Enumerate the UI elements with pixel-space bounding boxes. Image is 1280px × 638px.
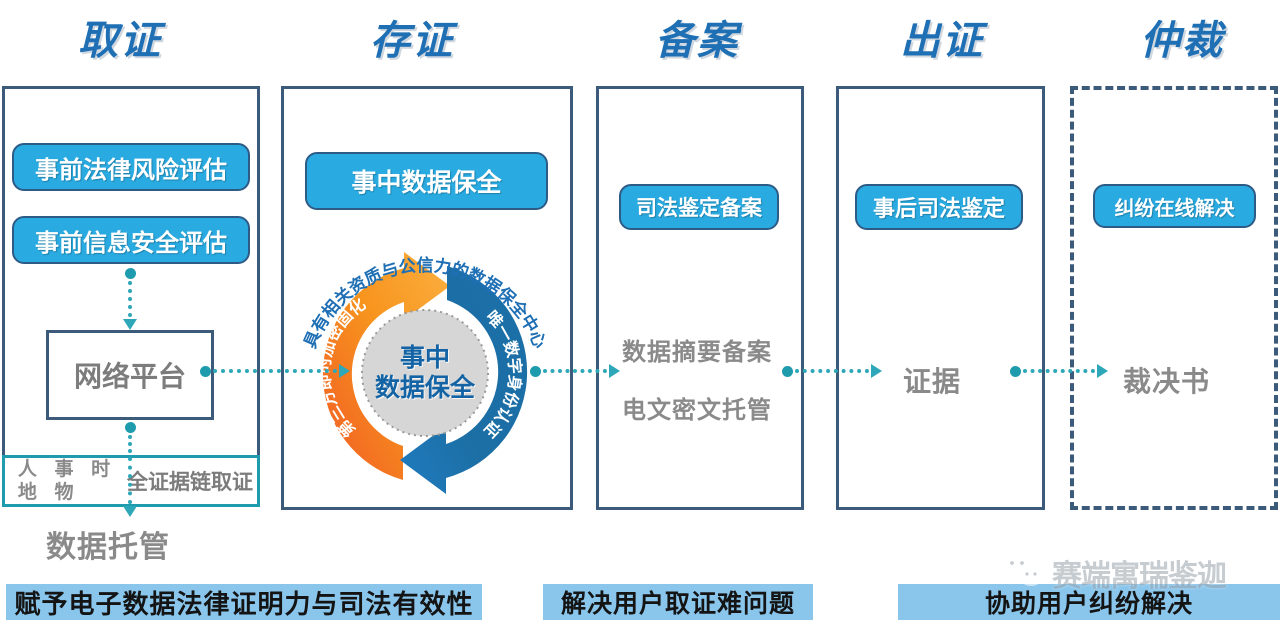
connector-dot [1010,366,1021,377]
connector-dot [530,366,541,377]
label-data-custody: 数据托管 [46,522,170,566]
connector-line [128,281,132,317]
pill-in-process-data-preservation[interactable]: 事中数据保全 [305,152,548,210]
connector-chuzheng-to-zhongcai [1010,364,1108,378]
connector-platform-to-cycle [200,364,350,378]
label-award-document: 裁决书 [1123,360,1210,400]
evidence-factor-blank [82,481,119,504]
stage-title-cunzheng: 存证 [370,8,454,66]
pill-judicial-appraisal-filing[interactable]: 司法鉴定备案 [619,184,779,230]
connector-arrowhead [1097,364,1108,378]
connector-dot [200,366,211,377]
label-data-digest-filing: 数据摘要备案 [622,332,772,367]
pill-post-judicial-appraisal[interactable]: 事后司法鉴定 [855,184,1023,230]
column-frame-zhongcai [1070,86,1278,510]
banner-evidence-difficulty: 解决用户取证难问题 [543,584,813,620]
connector-dot [782,366,793,377]
evidence-factor-object: 物 [46,481,83,504]
stage-title-zhongcai: 仲裁 [1140,8,1224,66]
evidence-factor-place: 地 [9,481,46,504]
pill-online-dispute-resolution[interactable]: 纠纷在线解决 [1093,184,1256,228]
banner-dispute-resolution: 协助用户纠纷解决 [898,584,1280,620]
diagram-canvas: 取证 存证 备案 出证 仲裁 事前法律风险评估 事前信息安全评估 事中数据保全 … [0,0,1280,638]
stage-title-chuzheng: 出证 [900,8,984,66]
connector-cycle-to-beian [530,364,620,378]
network-platform-box: 网络平台 [46,330,214,420]
connector-evidence-grid-to-custody [123,455,137,517]
connector-arrowhead [123,319,137,330]
connector-line [543,369,607,373]
connector-dot [125,268,136,279]
label-ciphertext-custody: 电文密文托管 [622,390,772,425]
connector-line [213,369,337,373]
connector-line [128,457,132,504]
connector-dot [125,422,136,433]
connector-arrowhead [609,364,620,378]
evidence-factor-time: 时 [82,458,119,481]
stage-title-beian: 备案 [655,8,739,66]
evidence-factor-person: 人 [9,458,46,481]
evidence-factor-event: 事 [46,458,83,481]
banner-legal-validity: 赋予电子数据法律证明力与司法有效性 [6,584,482,620]
pill-legal-risk-assessment[interactable]: 事前法律风险评估 [12,143,250,191]
connector-platform-to-evidence-grid [123,422,137,455]
connector-arrowhead [123,506,137,517]
label-evidence: 证据 [903,360,961,400]
connector-arrowhead [339,364,350,378]
column-frame-beian [596,86,804,510]
stage-title-quzheng: 取证 [78,8,162,66]
connector-arrowhead [871,364,882,378]
connector-line [1023,369,1095,373]
column-frame-chuzheng [836,86,1045,510]
pill-information-security-assessment[interactable]: 事前信息安全评估 [12,216,250,264]
full-evidence-chain-label: 全证据链取证 [123,458,257,504]
connector-assessment-to-platform [123,268,137,330]
connector-beian-to-chuzheng [782,364,882,378]
connector-line [128,435,132,453]
evidence-factor-grid: 人 事 时 地 物 [5,458,123,504]
connector-line [795,369,869,373]
